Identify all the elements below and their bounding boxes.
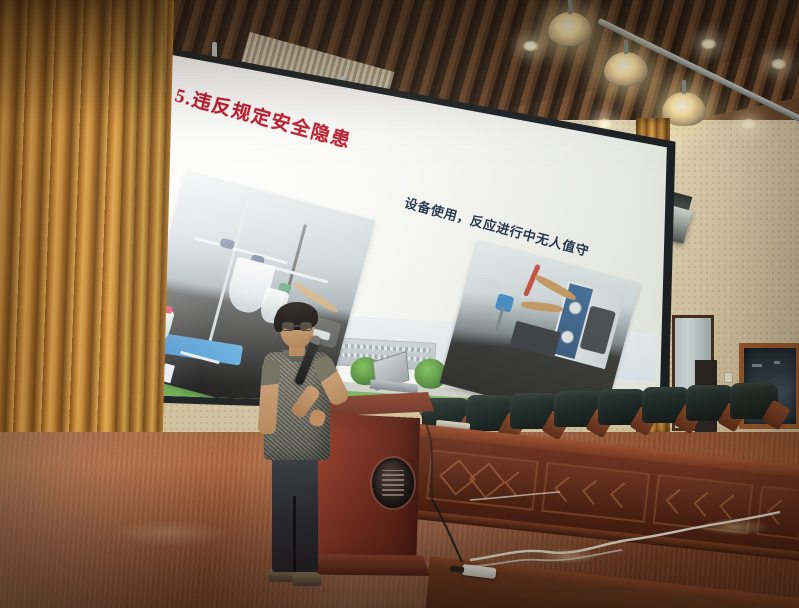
lecture-hall-photo: 5.违反规定安全隐患 设备使用，反应进行中无人值守 [0,0,799,608]
speaker [258,306,338,592]
white-cable [470,492,560,500]
laptop-on-podium[interactable] [370,356,416,392]
floor-mark [540,548,598,564]
floor-reflection-patch [110,520,230,546]
eyeglasses [282,322,312,331]
lens-right [300,322,312,331]
black-cable [432,500,462,562]
podium-emblem [372,458,414,508]
sandal [292,572,322,586]
floor-mark [700,518,770,536]
lens-left [282,322,294,331]
trousers [272,456,318,572]
